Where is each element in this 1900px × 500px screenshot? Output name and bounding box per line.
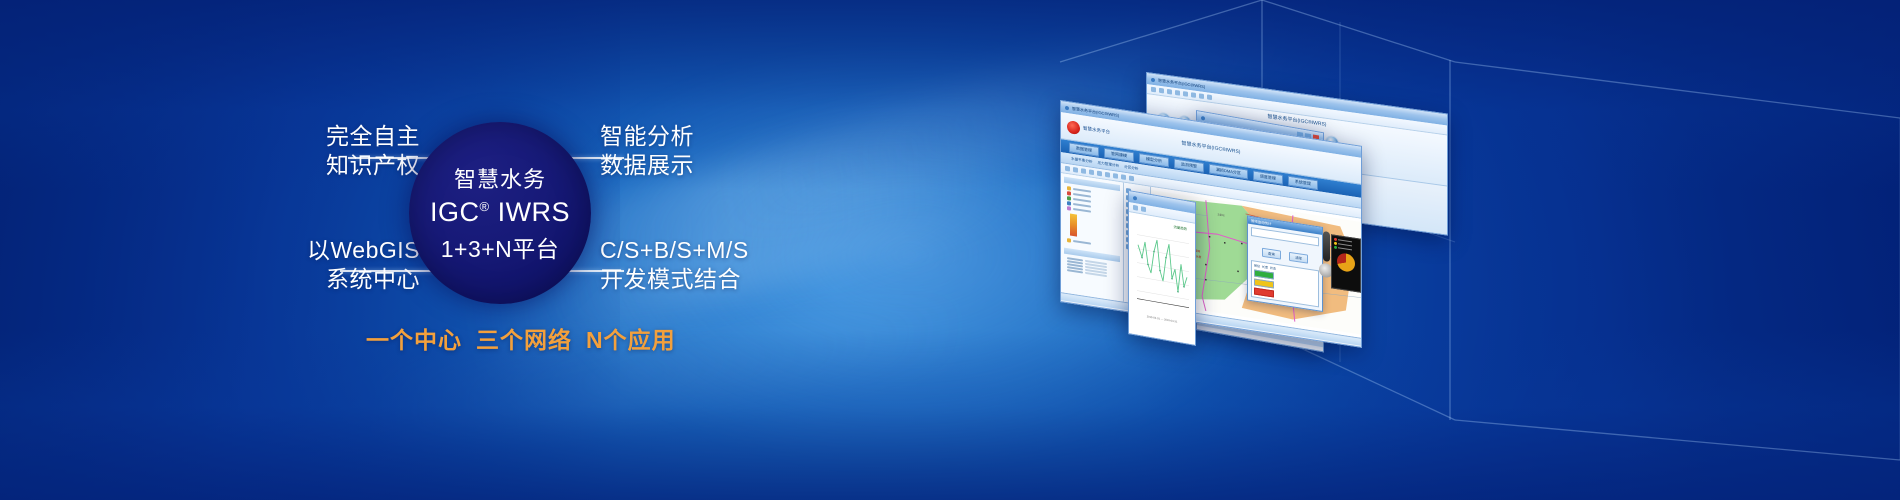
feature-line: 数据展示 (600, 151, 694, 180)
connector-line (348, 157, 436, 159)
layer-color-swatch (1067, 196, 1071, 201)
zoom-out-icon[interactable] (1089, 169, 1094, 175)
status-swatch (1254, 287, 1274, 297)
dialog-body: 查询 清除 管径 长度 状态 (1248, 224, 1322, 311)
tool-icon[interactable] (1191, 92, 1196, 98)
result-table: 管径 长度 状态 (1251, 260, 1319, 307)
center-badge: 智慧水务 IGC® IWRS 1+3+N平台 (409, 122, 591, 304)
feature-top-left: 完全自主 知识产权 (300, 122, 420, 181)
hero-banner: 智慧水务平台(IGC®IWRS) 智慧水务平台(IGC®IWRS) 数据管理 管… (0, 0, 1900, 500)
window-dot-icon (1201, 115, 1205, 120)
layer-color-swatch (1067, 201, 1071, 206)
tool-icon[interactable] (1207, 94, 1212, 100)
trend-chart: 流量趋势 2015-03-01 — (1129, 212, 1195, 346)
tagline-part-3: N个应用 (586, 327, 676, 353)
tool-icon[interactable] (1167, 89, 1172, 95)
col-diameter: 管径 (1254, 263, 1260, 268)
window-dot-icon (1151, 77, 1155, 82)
app-title: 智慧水务平台(IGC®IWRS) (1182, 139, 1241, 155)
badge-line-1: 智慧水务 (454, 162, 546, 194)
save-icon[interactable] (1073, 167, 1078, 173)
layer-color-swatch (1067, 186, 1071, 191)
layer-color-swatch (1067, 206, 1071, 211)
query-button[interactable]: 查询 (1262, 248, 1281, 260)
query-dialog[interactable]: 管线查询统计 查询 清除 管径 长度 (1247, 215, 1323, 312)
layer-label (1073, 240, 1091, 245)
badge-iwrs: IWRS (498, 197, 571, 227)
measure-icon[interactable] (1121, 174, 1126, 180)
feature-top-right: 智能分析 数据展示 (600, 122, 694, 181)
tagline-part-1: 一个中心 (366, 327, 462, 353)
perspective-grid (0, 0, 1900, 500)
subtab-pressure[interactable]: 压力管理分析 (1098, 160, 1120, 168)
tool-icon[interactable] (1159, 88, 1164, 94)
tool-icon[interactable] (1183, 91, 1188, 97)
zoom-in-icon[interactable] (1081, 168, 1086, 174)
open-icon[interactable] (1065, 166, 1070, 172)
pan-icon[interactable] (1097, 171, 1102, 177)
identify-icon[interactable] (1113, 173, 1118, 179)
layer-panel[interactable] (1061, 173, 1124, 302)
col-length: 长度 (1262, 265, 1268, 270)
tool-icon[interactable] (1175, 90, 1180, 96)
feature-bottom-right: C/S+B/S+M/S 开发模式结合 (600, 236, 749, 295)
feature-line: 知识产权 (300, 151, 420, 180)
tagline: 一个中心三个网络N个应用 (366, 321, 676, 355)
layer-color-swatch (1067, 238, 1071, 243)
registered-icon: ® (479, 199, 489, 214)
layer-color-swatch (1067, 191, 1071, 196)
col-status: 状态 (1270, 266, 1276, 271)
app-brand: 智慧水务平台 (1061, 119, 1110, 139)
tool-icon[interactable] (1151, 87, 1156, 93)
subtab-water-balance[interactable]: 水量平衡分析 (1071, 156, 1093, 164)
print-icon[interactable] (1129, 175, 1134, 181)
tagline-part-2: 三个网络 (476, 327, 572, 353)
feature-line: 智能分析 (600, 122, 694, 151)
badge-igc: IGC (430, 197, 480, 227)
pie-gauge-icon (1337, 252, 1355, 273)
feature-line: 以WebGIS (288, 236, 420, 265)
select-icon[interactable] (1105, 172, 1110, 178)
feature-line: 完全自主 (300, 122, 420, 151)
badge-line-3: 1+3+N平台 (441, 230, 560, 264)
window-dot-icon (1065, 105, 1069, 110)
feature-bottom-left: 以WebGIS 系统中心 (288, 236, 420, 295)
subtab-zone[interactable]: 分区分析 (1124, 164, 1138, 171)
badge-line-2: IGC® IWRS (430, 197, 570, 228)
feature-line: C/S+B/S+M/S (600, 236, 749, 265)
tool-icon[interactable] (1199, 93, 1204, 99)
window-dot-icon (1133, 195, 1137, 200)
zoom-slider[interactable] (1323, 231, 1330, 262)
app-brand-label: 智慧水务平台 (1083, 125, 1110, 136)
refresh-icon[interactable] (1133, 205, 1138, 211)
logo-icon (1067, 120, 1080, 135)
legend-gradient (1070, 214, 1077, 237)
export-icon[interactable] (1141, 206, 1146, 212)
connector-line (340, 270, 438, 272)
clear-button[interactable]: 清除 (1289, 252, 1308, 264)
layer-label (1073, 208, 1091, 213)
gauge-panel (1331, 234, 1361, 293)
